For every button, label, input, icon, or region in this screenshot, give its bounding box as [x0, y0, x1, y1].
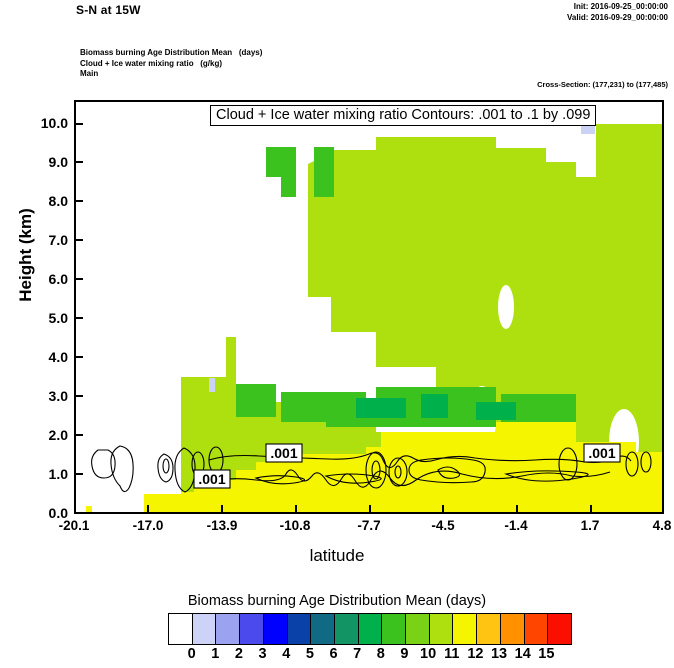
- x-tick-label: -7.7: [339, 518, 399, 533]
- x-tick-mark: [369, 505, 371, 514]
- x-tick-label: 1.7: [560, 518, 620, 533]
- y-tick-mark: [74, 239, 83, 241]
- x-tick-mark: [590, 505, 592, 514]
- y-tick-mark: [74, 200, 83, 202]
- x-axis-label: latitude: [237, 546, 437, 566]
- y-tick-mark: [74, 473, 83, 475]
- y-tick-mark: [74, 317, 83, 319]
- colorbar-cell-1[interactable]: [193, 614, 217, 644]
- colorbar-tick-labels: 0123456789101112131415: [168, 646, 572, 666]
- y-tick-label: 2.0: [8, 427, 68, 443]
- colorbar-cell-16[interactable]: [548, 614, 571, 644]
- colorbar-cell-9[interactable]: [382, 614, 406, 644]
- colorbar-cell-6[interactable]: [311, 614, 335, 644]
- contour-title-box: Cloud + Ice water mixing ratio Contours:…: [210, 105, 596, 126]
- x-tick-label: -17.0: [118, 518, 178, 533]
- y-tick-label: 4.0: [8, 349, 68, 365]
- x-tick-mark: [662, 505, 664, 514]
- colorbar-cell-0[interactable]: [169, 614, 193, 644]
- colorbar-cell-8[interactable]: [359, 614, 383, 644]
- colorbar-cell-13[interactable]: [477, 614, 501, 644]
- x-tick-label: -13.9: [192, 518, 252, 533]
- field-description: Biomass burning Age Distribution Mean (d…: [80, 48, 262, 80]
- init-valid-block: Init: 2016-09-25_00:00:00 Valid: 2016-09…: [567, 1, 668, 23]
- colorbar-cell-7[interactable]: [335, 614, 359, 644]
- x-tick-mark: [221, 505, 223, 514]
- x-tick-mark: [516, 505, 518, 514]
- colorbar-cell-14[interactable]: [501, 614, 525, 644]
- y-tick-mark: [74, 434, 83, 436]
- colorbar-cell-4[interactable]: [264, 614, 288, 644]
- colorbar-title: Biomass burning Age Distribution Mean (d…: [137, 593, 537, 609]
- colorbar-cell-2[interactable]: [216, 614, 240, 644]
- page-title: S-N at 15W: [76, 3, 141, 17]
- y-tick-label: 8.0: [8, 193, 68, 209]
- init-time: Init: 2016-09-25_00:00:00: [567, 1, 668, 12]
- valid-time: Valid: 2016-09-29_00:00:00: [567, 12, 668, 23]
- y-tick-label: 1.0: [8, 466, 68, 482]
- y-tick-label: 9.0: [8, 154, 68, 170]
- colorbar-cell-10[interactable]: [406, 614, 430, 644]
- x-tick-mark: [295, 505, 297, 514]
- y-tick-label: 10.0: [8, 115, 68, 131]
- x-tick-mark: [147, 505, 149, 514]
- y-tick-mark: [74, 278, 83, 280]
- svg-text:.001: .001: [270, 445, 297, 461]
- x-tick-label: -1.4: [486, 518, 546, 533]
- svg-text:.001: .001: [198, 471, 225, 487]
- x-tick-label: -20.1: [44, 518, 104, 533]
- y-tick-label: 6.0: [8, 271, 68, 287]
- y-tick-label: 3.0: [8, 388, 68, 404]
- y-tick-mark: [74, 356, 83, 358]
- colorbar-cell-3[interactable]: [240, 614, 264, 644]
- x-tick-mark: [442, 505, 444, 514]
- plot-area[interactable]: .001 .001 .001 Cloud + Ice water mixing …: [74, 100, 664, 514]
- colorbar-cell-11[interactable]: [430, 614, 454, 644]
- x-tick-label: -4.5: [413, 518, 473, 533]
- contour-field: .001 .001 .001: [76, 102, 662, 512]
- colorbar-cell-5[interactable]: [288, 614, 312, 644]
- x-tick-label: -10.8: [265, 518, 325, 533]
- colorbar-tick-label: 15: [531, 646, 561, 662]
- y-tick-label: 5.0: [8, 310, 68, 326]
- colorbar-cell-12[interactable]: [453, 614, 477, 644]
- y-tick-mark: [74, 395, 83, 397]
- y-tick-mark: [74, 123, 83, 125]
- x-tick-label: 4.8: [632, 518, 674, 533]
- colorbar[interactable]: [168, 613, 572, 645]
- y-tick-mark: [74, 161, 83, 163]
- colorbar-cell-15[interactable]: [525, 614, 549, 644]
- y-tick-label: 7.0: [8, 232, 68, 248]
- svg-text:.001: .001: [588, 445, 615, 461]
- cross-section-label: Cross-Section: (177,231) to (177,485): [537, 80, 668, 89]
- x-tick-mark: [74, 505, 76, 514]
